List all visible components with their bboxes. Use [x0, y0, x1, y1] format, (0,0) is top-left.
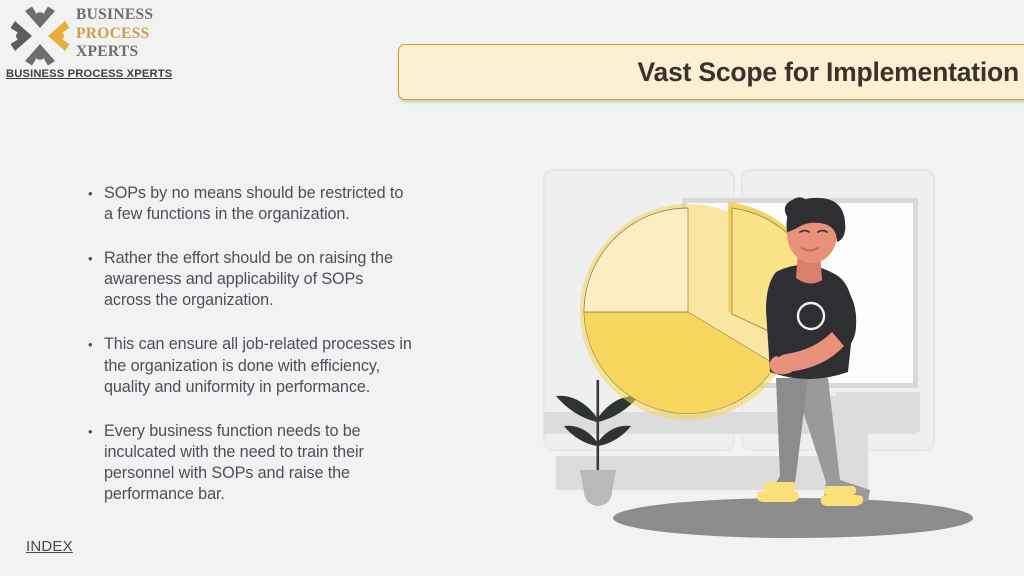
- bullet-point-icon: •: [84, 183, 104, 204]
- bullet-text: Every business function needs to be incu…: [104, 421, 484, 505]
- list-item: • Every business function needs to be in…: [84, 421, 484, 505]
- bullet-point-icon: •: [84, 421, 104, 442]
- list-item: • This can ensure all job-related proces…: [84, 334, 484, 397]
- brand-word-process: PROCESS: [76, 25, 153, 44]
- slide-title-bar: Vast Scope for Implementation: [398, 44, 1024, 100]
- brand-wordmark: BUSINESS PROCESS XPERTS: [76, 6, 153, 62]
- slide-canvas: BUSINESS PROCESS XPERTS BUSINESS PROCESS…: [0, 0, 1024, 576]
- brand-caption-link[interactable]: BUSINESS PROCESS XPERTS: [6, 68, 172, 80]
- bullet-text: Rather the effort should be on raising t…: [104, 248, 484, 311]
- brand-logo-block[interactable]: BUSINESS PROCESS XPERTS BUSINESS PROCESS…: [4, 2, 214, 88]
- bullet-list: • SOPs by no means should be restricted …: [84, 183, 484, 505]
- page-title: Vast Scope for Implementation: [638, 57, 1019, 88]
- business-process-xperts-diamond-logo: [8, 4, 72, 68]
- list-item: • Rather the effort should be on raising…: [84, 248, 484, 311]
- floor-shadow: [613, 498, 973, 538]
- bullet-text: This can ensure all job-related processe…: [104, 334, 484, 397]
- man-with-exploded-pie-chart-illustration: [540, 160, 1024, 576]
- bullet-text: SOPs by no means should be restricted to…: [104, 183, 484, 225]
- bullet-point-icon: •: [84, 248, 104, 269]
- list-item: • SOPs by no means should be restricted …: [84, 183, 484, 225]
- brand-word-business: BUSINESS: [76, 6, 153, 25]
- index-link[interactable]: INDEX: [26, 538, 73, 555]
- brand-word-xperts: XPERTS: [76, 43, 153, 62]
- bullet-point-icon: •: [84, 334, 104, 355]
